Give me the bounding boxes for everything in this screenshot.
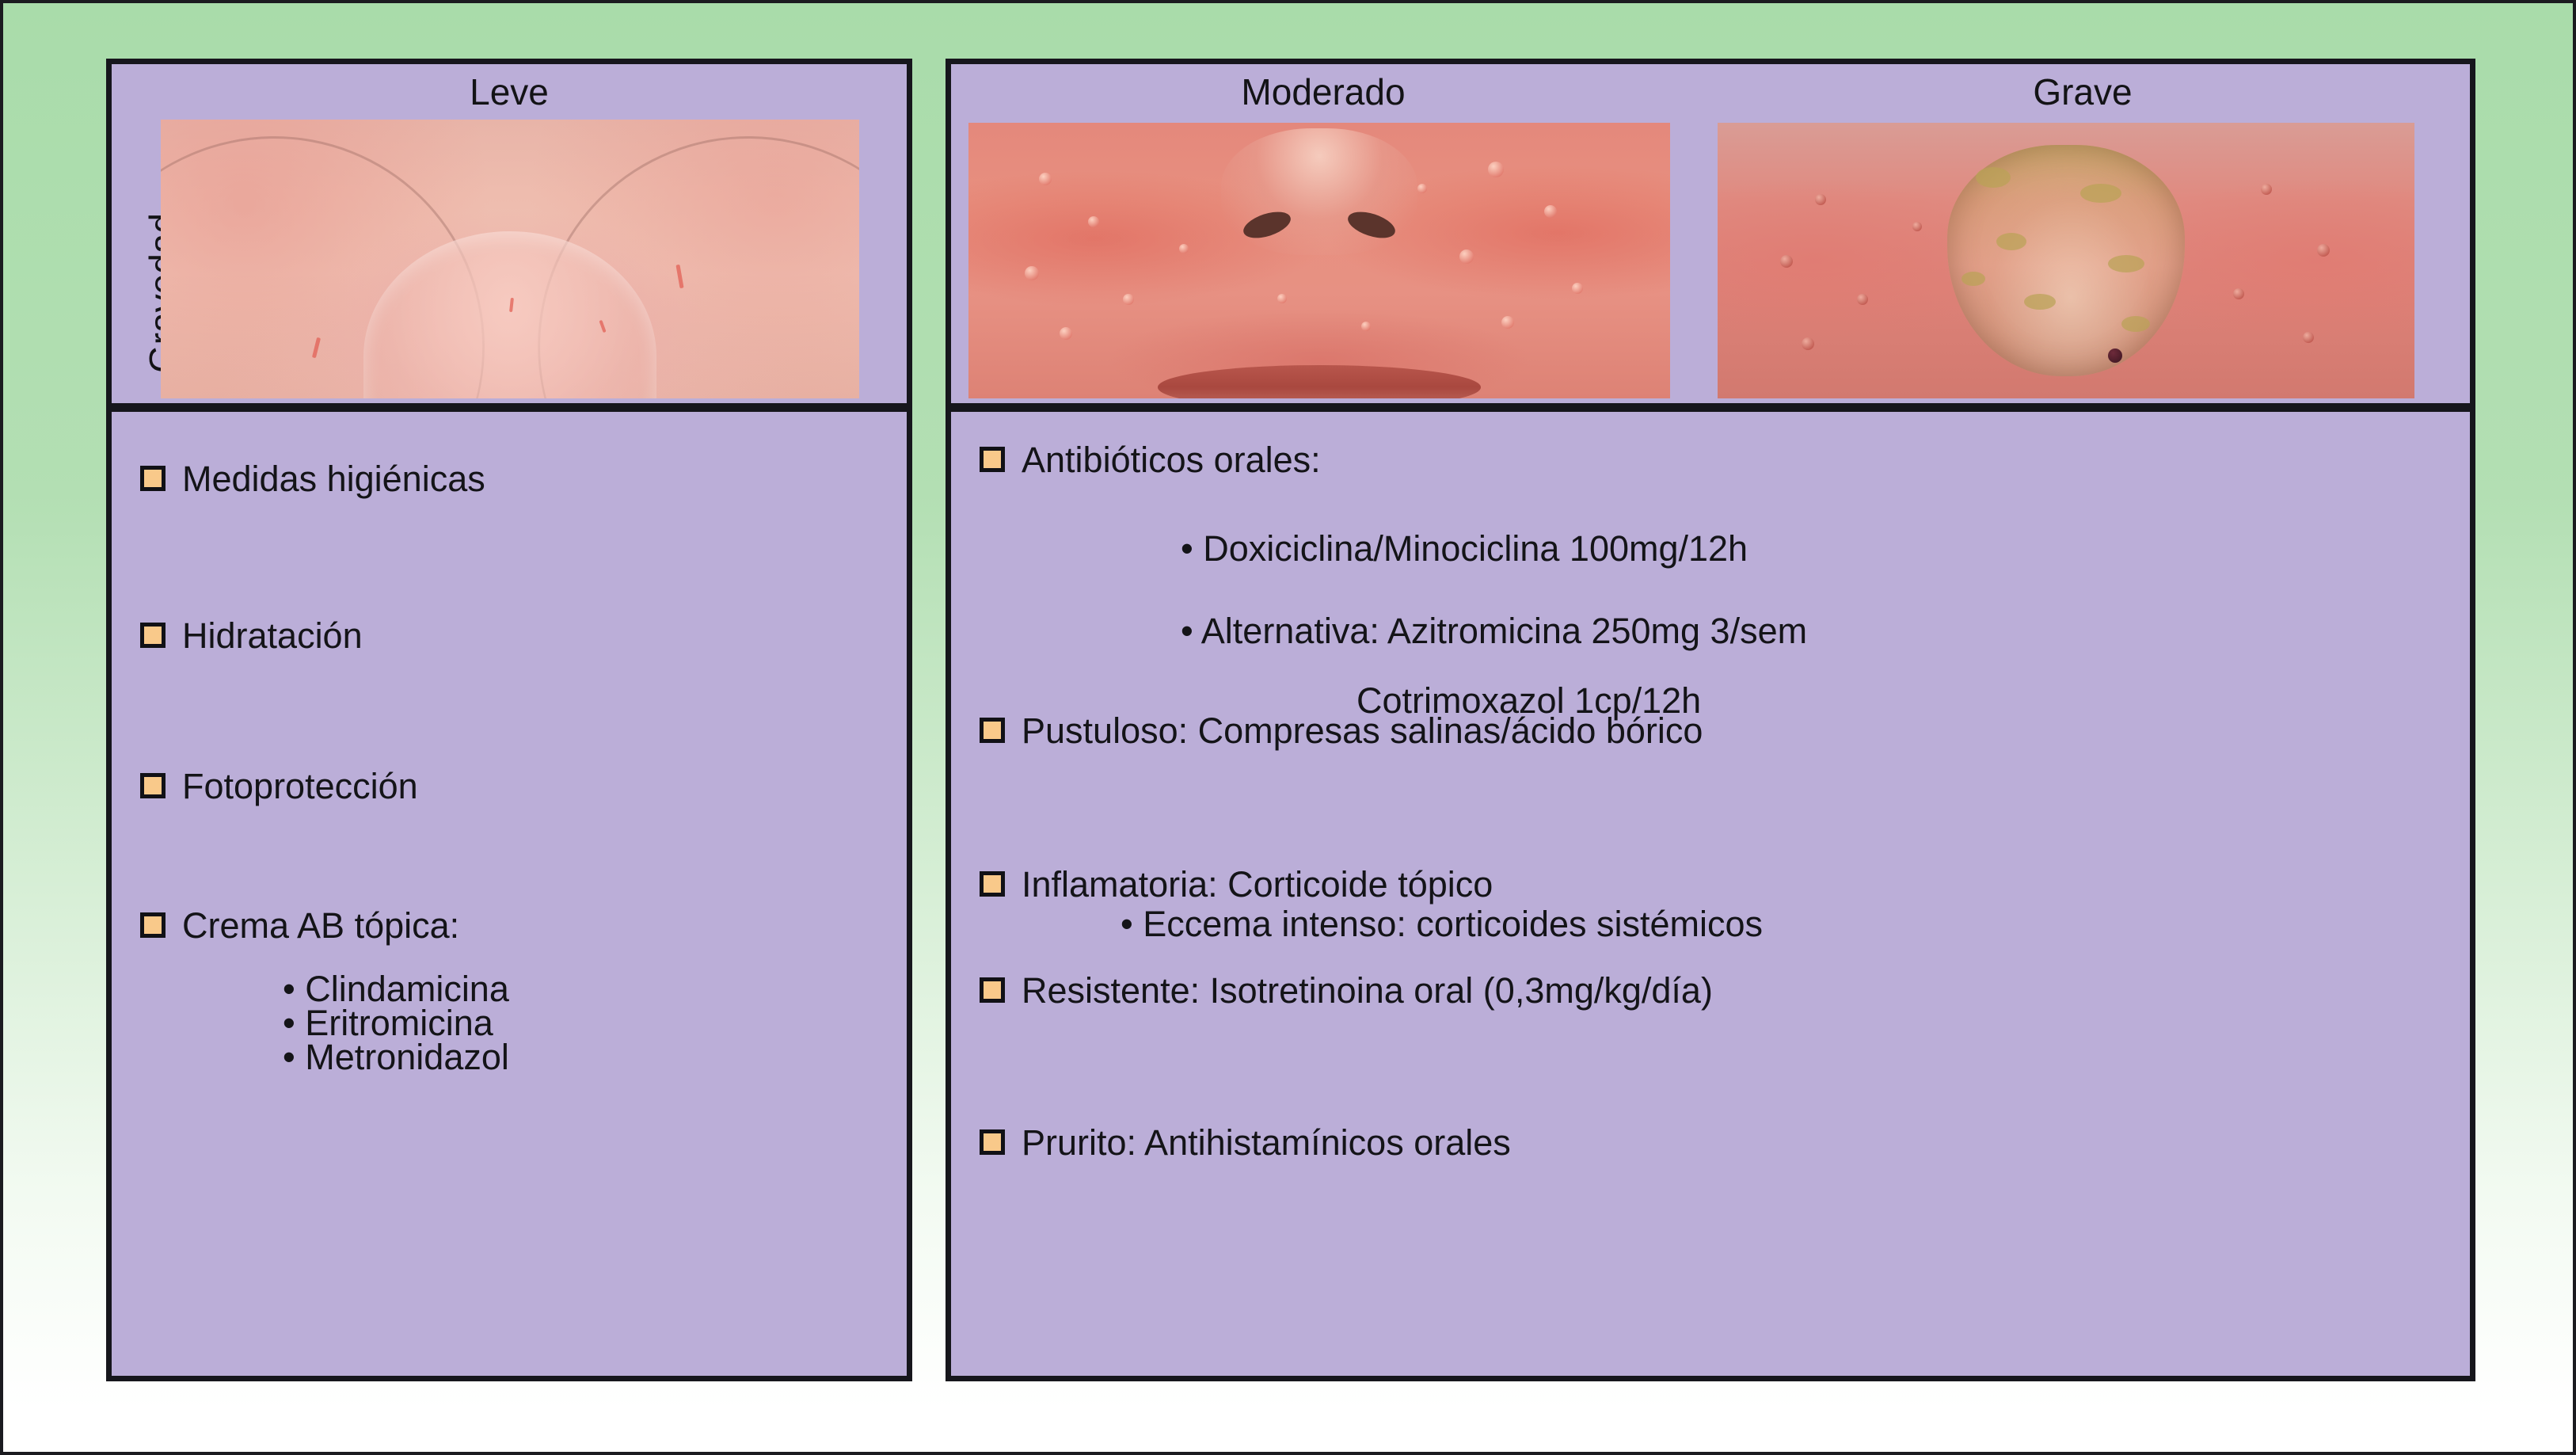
crust [2108,255,2144,272]
crust [2080,184,2121,203]
papule [1572,283,1583,294]
checkbox-icon[interactable] [980,871,1005,897]
papule [1857,294,1868,305]
sub-bullet: • Metronidazol [283,1038,509,1077]
panel-divider [951,403,2470,412]
papule [1123,294,1134,305]
treatment-item-label: Antibióticos orales: [1022,440,1321,480]
treatment-item[interactable]: Prurito: Antihistamínicos orales [980,1123,1511,1163]
severity-header-moderado: Moderado [951,64,1695,120]
papule [1544,205,1557,218]
severity-header-leve: Leve [112,64,907,120]
treatment-item-label: Medidas higiénicas [182,459,485,499]
crust [2121,316,2150,332]
checkbox-icon[interactable] [140,466,166,491]
treatment-item-label: Hidratación [182,616,363,656]
papule [1025,266,1039,280]
papule [1277,294,1287,303]
checkbox-icon[interactable] [980,1129,1005,1155]
checkbox-icon[interactable] [980,977,1005,1003]
crust [2024,294,2056,310]
treatment-item[interactable]: Resistente: Isotretinoina oral (0,3mg/kg… [980,971,1713,1011]
moderate-severe-treatment-list: Antibióticos orales: • Doxiciclina/Minoc… [951,412,2470,1376]
treatment-item-label: Pustuloso: Compresas salinas/ácido bóric… [1022,711,1703,751]
moderate-severe-panel: Moderado Grave [946,59,2475,1381]
treatment-item[interactable]: Hidratación [140,616,363,656]
treatment-item-label: Inflamatoria: Corticoide tópico [1022,865,1493,905]
papule [1488,162,1504,177]
sub-bullet: • Eccema intenso: corticoides sistémicos [1121,905,1763,944]
checkbox-icon[interactable] [980,447,1005,472]
papule [2233,288,2244,299]
treatment-item[interactable]: Inflamatoria: Corticoide tópico [980,865,1493,905]
figure-canvas: Leve Gravedad Medidas higiénicas Hidrata… [0,0,2576,1455]
treatment-item-label: Prurito: Antihistamínicos orales [1022,1123,1511,1163]
treatment-item[interactable]: Antibióticos orales: [980,440,1321,480]
panel-divider [112,403,907,412]
checkbox-icon[interactable] [140,912,166,938]
checkbox-icon[interactable] [140,623,166,648]
checkbox-icon[interactable] [140,773,166,798]
treatment-item-label: Fotoprotección [182,767,418,806]
papule [1417,184,1427,193]
sub-bullet: • Doxiciclina/Minociclina 100mg/12h [1181,529,1748,569]
treatment-item-label: Crema AB tópica: [182,906,459,946]
mild-treatment-list: Medidas higiénicas Hidratación Fotoprote… [112,412,907,1376]
papule [1361,322,1371,331]
crust [1961,272,1985,286]
treatment-item[interactable]: Pustuloso: Compresas salinas/ácido bóric… [980,711,1703,751]
rosacea-moderate-photo [968,123,1670,398]
rosacea-mild-photo [161,120,859,398]
crust [1976,167,2011,188]
papule [1802,337,1814,350]
papule [1060,327,1072,340]
mild-severity-panel: Leve Gravedad Medidas higiénicas Hidrata… [106,59,912,1381]
checkbox-icon[interactable] [980,718,1005,743]
treatment-item[interactable]: Crema AB tópica: [140,906,459,946]
sub-bullet: • Alternativa: Azitromicina 250mg 3/sem [1181,611,1807,651]
papule [1039,173,1052,185]
papule [2261,184,2272,195]
severity-header-grave: Grave [1695,64,2470,120]
papule [1501,316,1514,329]
papule [1179,244,1189,253]
rosacea-severe-photo [1718,123,2414,398]
treatment-item-label: Resistente: Isotretinoina oral (0,3mg/kg… [1022,971,1713,1011]
treatment-item[interactable]: Medidas higiénicas [140,459,485,499]
papule [1088,216,1099,227]
papule [2317,244,2330,257]
treatment-item[interactable]: Fotoprotección [140,767,418,806]
